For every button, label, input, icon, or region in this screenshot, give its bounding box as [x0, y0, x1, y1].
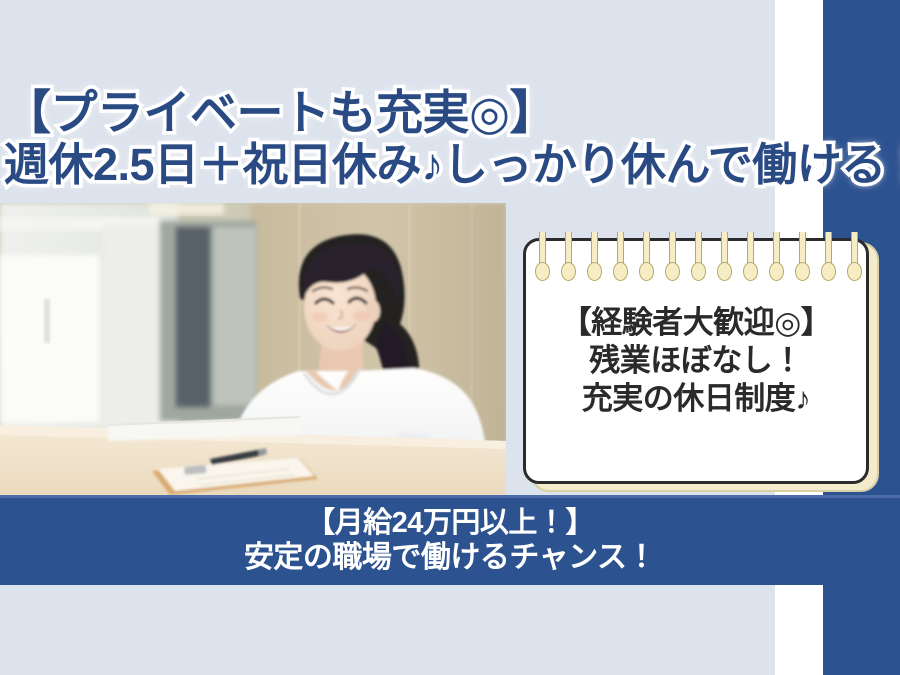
- spiral-ring-loop: [639, 262, 654, 281]
- banner-top-edge: [0, 495, 900, 498]
- headline-line-2: 週休2.5日＋祝日休み♪しっかり休んで働ける！: [0, 141, 900, 189]
- staff-photo: [0, 203, 506, 498]
- spiral-ring-loop: [743, 262, 758, 281]
- staff-photo-illustration: [0, 203, 506, 498]
- headline-block: 【プライベートも充実◎】 週休2.5日＋祝日休み♪しっかり休んで働ける！: [0, 88, 900, 189]
- spiral-ring-loop: [613, 262, 628, 281]
- spiral-ring: [561, 232, 574, 284]
- spiral-ring-loop: [665, 262, 680, 281]
- poster-canvas: 【プライベートも充実◎】 週休2.5日＋祝日休み♪しっかり休んで働ける！ 【経験…: [0, 0, 900, 675]
- notepad-callout: 【経験者大歓迎◎】 残業ほぼなし！ 充実の休日制度♪: [523, 232, 875, 488]
- spiral-ring: [847, 232, 860, 284]
- spiral-ring-loop: [587, 262, 602, 281]
- spiral-ring: [795, 232, 808, 284]
- notepad-line-3: 充実の休日制度♪: [582, 381, 811, 416]
- spiral-ring: [613, 232, 626, 284]
- notepad-line-1: 【経験者大歓迎◎】: [561, 305, 832, 340]
- spiral-ring: [743, 232, 756, 284]
- notepad-line-2: 残業ほぼなし！: [589, 343, 803, 378]
- banner-line-1: 【月給24万円以上！】: [306, 508, 594, 540]
- spiral-ring: [535, 232, 548, 284]
- spiral-ring: [821, 232, 834, 284]
- notepad-spiral-rings: [523, 232, 875, 292]
- salary-banner: 【月給24万円以上！】 安定の職場で働けるチャンス！: [0, 497, 900, 585]
- spiral-ring: [691, 232, 704, 284]
- spiral-ring-loop: [717, 262, 732, 281]
- headline-line-1: 【プライベートも充実◎】: [0, 88, 900, 138]
- spiral-ring-loop: [795, 262, 810, 281]
- spiral-ring: [717, 232, 730, 284]
- spiral-ring-loop: [561, 262, 576, 281]
- spiral-ring-loop: [769, 262, 784, 281]
- spiral-ring-loop: [821, 262, 836, 281]
- spiral-ring: [639, 232, 652, 284]
- banner-line-2: 安定の職場で働けるチャンス！: [244, 541, 656, 574]
- spiral-ring-loop: [847, 262, 862, 281]
- notepad-text: 【経験者大歓迎◎】 残業ほぼなし！ 充実の休日制度♪: [561, 304, 832, 417]
- spiral-ring: [665, 232, 678, 284]
- spiral-ring-loop: [535, 262, 550, 281]
- spiral-ring: [587, 232, 600, 284]
- spiral-ring-loop: [691, 262, 706, 281]
- spiral-ring: [769, 232, 782, 284]
